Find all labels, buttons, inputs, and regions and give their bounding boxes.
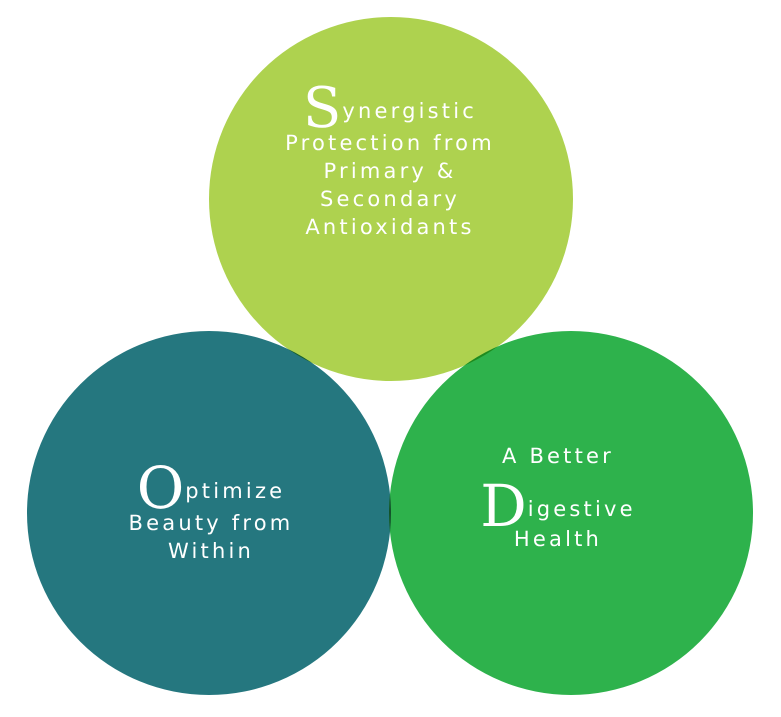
venn-circles-svg (0, 0, 781, 717)
circle-synergistic-protection (209, 17, 573, 381)
venn-diagram: Synergistic Protection from Primary & Se… (0, 0, 781, 717)
circle-optimize-beauty (27, 331, 391, 695)
circle-digestive-health (389, 331, 753, 695)
